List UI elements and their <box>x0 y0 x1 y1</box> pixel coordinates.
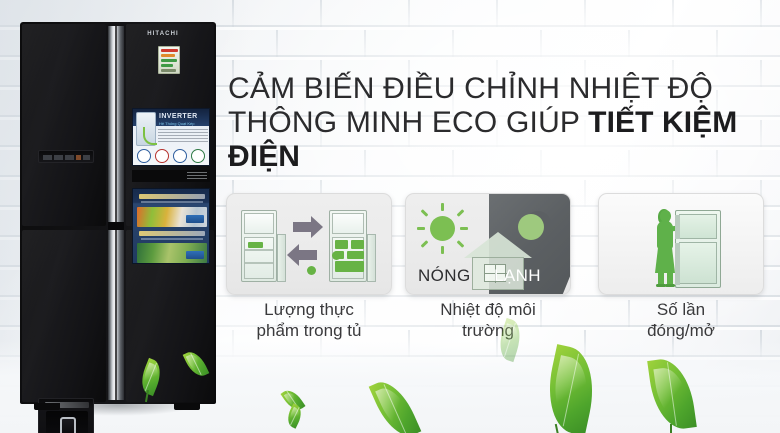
sticker-body-text-lines <box>158 129 208 143</box>
caption-ambient-line1: Nhiệt độ môi <box>398 299 578 320</box>
food-item-sparse <box>248 242 263 248</box>
door-hinge-bottom <box>675 243 680 285</box>
headline-line-1: CẢM BIẾN ĐIỀU CHỈNH NHIỆT ĐỘ <box>228 72 713 105</box>
hitachi-brand-logo: HITACHI <box>140 30 186 38</box>
inverter-sticker-title: INVERTER <box>159 113 198 120</box>
sticker-fridge-illustration <box>136 112 156 146</box>
feature-card-door-open-count[interactable] <box>598 193 764 295</box>
freezer-compartment <box>244 213 274 234</box>
caption-door-line2: đóng/mở <box>591 320 771 341</box>
fridge-body: HITACHI INVERTER Hệ Thống Quạt Kép <box>20 22 216 404</box>
airflow-curve-icon <box>143 127 157 145</box>
promo-banner: HITACHI INVERTER Hệ Thống Quạt Kép <box>0 0 780 433</box>
food-sticker-subline-2 <box>141 238 203 240</box>
footer-text-mark <box>187 172 207 179</box>
food-sticker-title-2 <box>139 231 205 236</box>
label-hot: NÓNG <box>418 266 471 286</box>
sticker-badge-1 <box>137 149 151 163</box>
feature-card-food-amount[interactable] <box>226 193 392 295</box>
headline-line-2: THÔNG MINH ECO GIÚP TIẾT KIỆM ĐIỆN <box>228 106 776 174</box>
caption-food-amount-line2: phẩm trong tủ <box>219 320 399 341</box>
fridge-illustration-empty <box>241 210 277 282</box>
leaf-stem-7 <box>670 424 672 433</box>
handle-seam <box>115 26 117 400</box>
food-promo-sticker <box>132 188 210 264</box>
caption-ambient-temperature: Nhiệt độ môi trường <box>398 299 578 341</box>
fridge-foot-left <box>34 403 60 410</box>
feature-card-ambient-temperature[interactable]: NÓNG LẠNH <box>405 193 571 295</box>
inverter-promo-sticker: INVERTER Hệ Thống Quạt Kép <box>132 108 210 166</box>
caption-food-amount-line1: Lượng thực <box>219 299 399 320</box>
sticker-footer-band <box>132 170 210 182</box>
arrow-left-icon <box>287 244 299 266</box>
sticker-badge-2 <box>155 149 169 163</box>
caption-ambient-line2: trường <box>398 320 578 341</box>
dispenser-nozzle-icon <box>60 417 76 433</box>
arrow-right-shaft <box>293 222 311 232</box>
fridge-illustration-full <box>329 210 367 282</box>
caption-door-open-count: Số lần đóng/mở <box>591 299 771 341</box>
door-hinge-top <box>675 215 680 239</box>
caption-door-line1: Số lần <box>591 299 771 320</box>
food-sticker-tag-2 <box>186 251 204 259</box>
fridge-compartment-full <box>332 237 364 279</box>
fridge-door-panel <box>679 242 717 284</box>
caption-food-amount: Lượng thực phẩm trong tủ <box>219 299 399 341</box>
food-sticker-tag-1 <box>186 215 204 223</box>
food-sticker-subline-1 <box>141 201 203 203</box>
energy-label-sticker <box>158 46 180 74</box>
fridge-compartment <box>244 237 274 279</box>
fridge-door-bottom-left <box>22 230 106 402</box>
inverter-sticker-subtitle: Hệ Thống Quạt Kép <box>159 121 195 126</box>
headline-line-2-prefix: THÔNG MINH ECO GIÚP <box>228 106 588 139</box>
fridge-foot-right <box>174 403 200 410</box>
dispenser-alcove <box>46 411 88 433</box>
food-dot-indicator <box>307 266 316 275</box>
sticker-badge-4 <box>191 149 205 163</box>
fridge-control-panel <box>38 150 94 163</box>
sticker-badge-3 <box>173 149 187 163</box>
label-cold: LẠNH <box>494 266 541 286</box>
house-roof-icon <box>464 232 532 258</box>
arrow-right-icon <box>311 216 323 238</box>
fridge-illustration-open-door <box>675 210 721 288</box>
handle-gap <box>108 222 124 230</box>
fridge-door-top-left <box>22 24 106 226</box>
freezer-compartment-full <box>332 213 364 234</box>
freezer-door-panel <box>679 214 717 239</box>
headline: CẢM BIẾN ĐIỀU CHỈNH NHIỆT ĐỘ THÔNG MINH … <box>228 72 776 174</box>
open-door-panel-left-fridge <box>277 234 286 282</box>
arrow-left-shaft <box>299 250 317 260</box>
food-sticker-title-1 <box>139 194 205 199</box>
open-door-panel-right-fridge <box>367 234 376 282</box>
